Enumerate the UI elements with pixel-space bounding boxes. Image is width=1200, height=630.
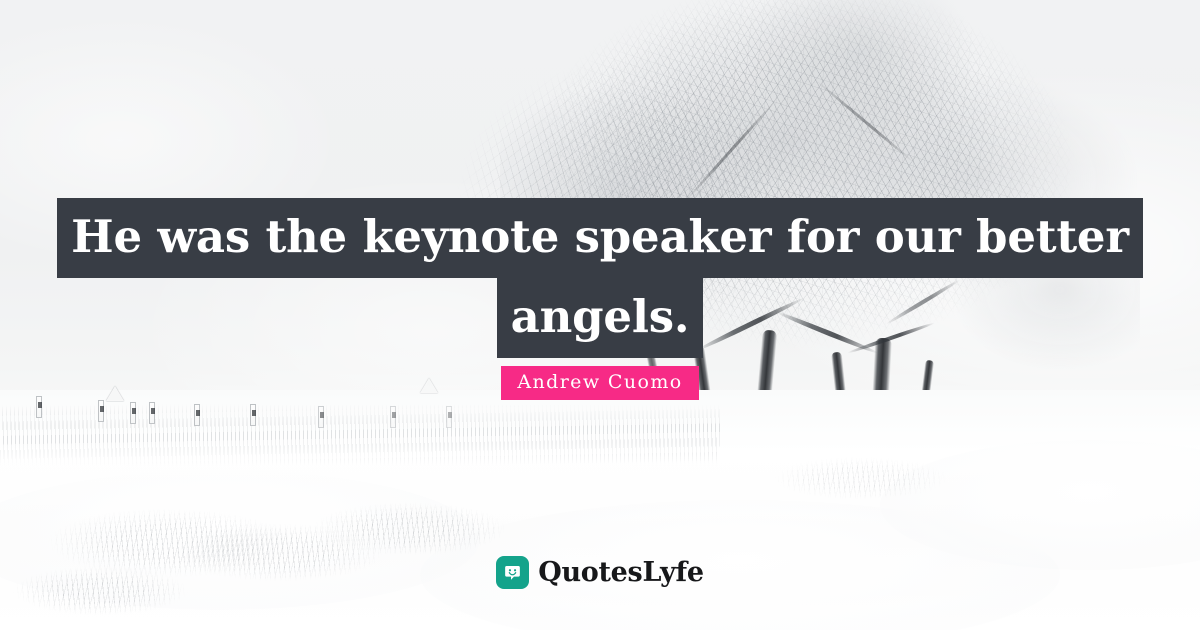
field-post [98, 400, 104, 422]
field-post [390, 406, 396, 428]
field-post [318, 406, 324, 428]
field-post [250, 404, 256, 426]
field-post [130, 402, 136, 424]
quote-line: angels. [497, 278, 704, 358]
quote-line: He was the keynote speaker for our bette… [57, 198, 1143, 278]
grass-brush [300, 496, 520, 556]
field-post [194, 404, 200, 426]
brand-logo[interactable]: QuotesLyfe [0, 556, 1200, 589]
author-row: Andrew Cuomo [0, 366, 1200, 400]
quote-author: Andrew Cuomo [501, 366, 698, 400]
field-post [446, 406, 452, 428]
grass-brush [760, 452, 960, 500]
brand-name: QuotesLyfe [538, 559, 704, 586]
quote-bubble-icon [496, 556, 529, 589]
distant-reeds [0, 404, 720, 466]
field-post [149, 402, 155, 424]
quote-card: He was the keynote speaker for our bette… [0, 0, 1200, 630]
quote-block: He was the keynote speaker for our bette… [0, 198, 1200, 358]
